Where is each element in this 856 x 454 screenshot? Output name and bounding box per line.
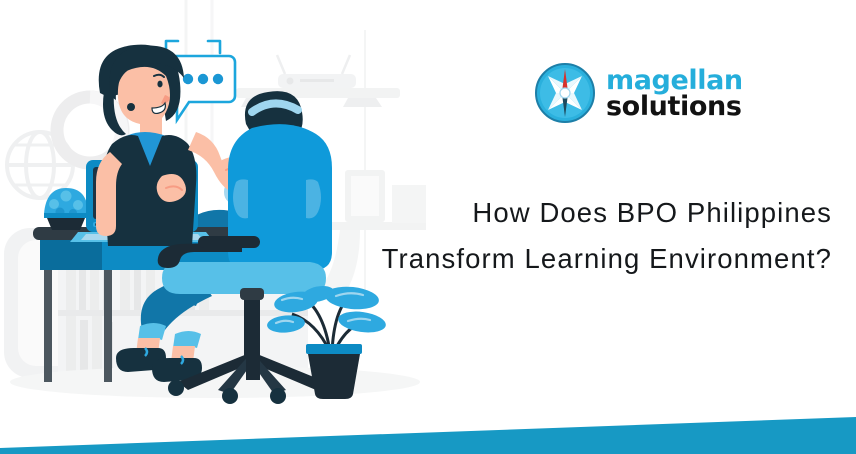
logo-wordmark: magellan solutions: [606, 68, 743, 120]
compass-rose-icon: [534, 62, 596, 124]
headline-line-1: How Does BPO Philippines: [312, 190, 832, 236]
logo-word-solutions: solutions: [606, 94, 743, 120]
magellan-solutions-logo[interactable]: magellan solutions: [534, 62, 743, 124]
background-wifi-router-icon: [277, 55, 356, 88]
banner-root: magellan solutions How Does BPO Philippi…: [0, 0, 856, 454]
page-title: How Does BPO Philippines Transform Learn…: [312, 190, 832, 282]
headline-line-2: Transform Learning Environment?: [312, 236, 832, 282]
